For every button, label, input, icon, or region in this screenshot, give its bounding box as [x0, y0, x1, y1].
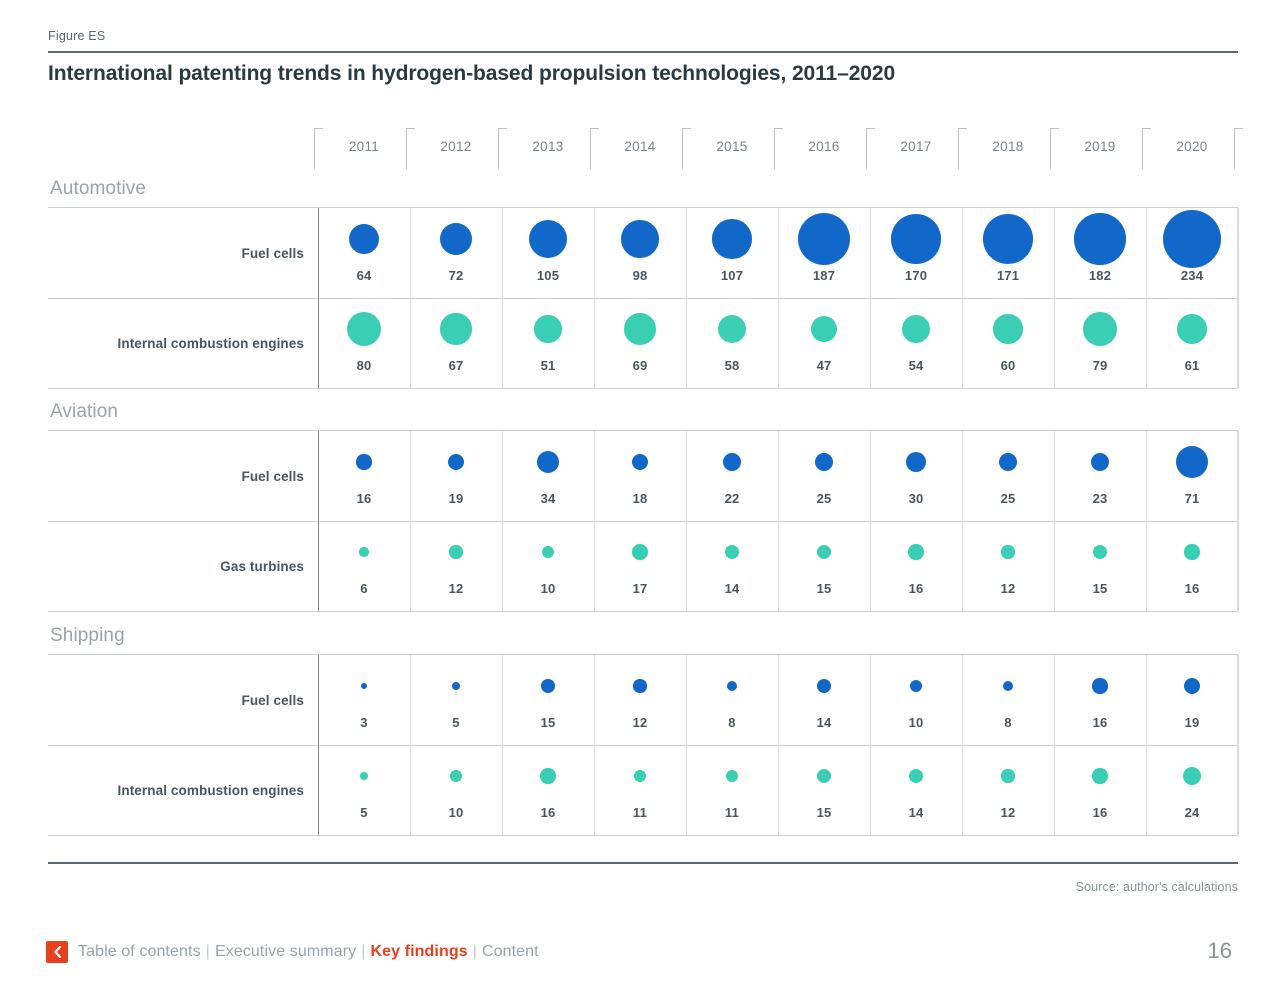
bubble-marker: [633, 679, 646, 692]
bubble-slot: [318, 431, 410, 493]
bubble-slot: [686, 521, 778, 583]
bubble-slot: [1054, 521, 1146, 583]
group-aviation: AviationFuel cells16193418222530252371Ga…: [48, 401, 1238, 612]
bubble-marker: [624, 313, 655, 344]
bubble-marker: [361, 683, 368, 690]
data-value: 71: [1146, 491, 1238, 506]
data-cell: 67: [410, 298, 502, 388]
data-value: 5: [410, 715, 502, 730]
data-value: 10: [410, 805, 502, 820]
data-value: 25: [778, 491, 870, 506]
year-header-2015: 2015: [686, 120, 778, 172]
data-value: 67: [410, 358, 502, 373]
bubble-marker: [727, 681, 738, 692]
year-header-2020: 2020: [1146, 120, 1238, 172]
breadcrumb-separator: |: [473, 943, 477, 960]
bubble-slot: [594, 431, 686, 493]
bubble-slot: [870, 521, 962, 583]
data-value: 51: [502, 358, 594, 373]
column-divider: [1237, 208, 1238, 388]
data-value: 72: [410, 268, 502, 283]
bubble-marker: [347, 312, 381, 346]
data-cell: 14: [778, 655, 870, 745]
bubble-marker: [1092, 768, 1107, 783]
data-cell: 19: [410, 431, 502, 521]
data-cell: 3: [318, 655, 410, 745]
bubble-marker: [1074, 213, 1125, 264]
data-cell: 24: [1146, 745, 1238, 835]
data-cell: 12: [962, 521, 1054, 611]
bubble-slot: [1146, 208, 1238, 270]
bubble-slot: [870, 745, 962, 807]
data-value: 60: [962, 358, 1054, 373]
bubble-slot: [502, 745, 594, 807]
bubble-slot: [778, 745, 870, 807]
bubble-slot: [962, 745, 1054, 807]
bubble-slot: [1146, 521, 1238, 583]
bubble-slot: [962, 298, 1054, 360]
bubble-slot: [686, 745, 778, 807]
bubble-marker: [541, 679, 556, 694]
data-cell: 79: [1054, 298, 1146, 388]
breadcrumb: Table of contents|Executive summary|Key …: [78, 943, 539, 961]
data-cell: 15: [1054, 521, 1146, 611]
year-header-2013: 2013: [502, 120, 594, 172]
bubble-marker: [983, 214, 1033, 264]
data-cell: 17: [594, 521, 686, 611]
breadcrumb-separator: |: [206, 943, 210, 960]
row-label: Internal combustion engines: [48, 298, 304, 388]
data-value: 58: [686, 358, 778, 373]
data-value: 14: [870, 805, 962, 820]
bubble-marker: [811, 316, 837, 342]
breadcrumb-item-executive-summary[interactable]: Executive summary: [215, 943, 356, 960]
bubble-slot: [778, 298, 870, 360]
bubble-slot: [502, 298, 594, 360]
data-value: 12: [962, 805, 1054, 820]
bubble-slot: [502, 208, 594, 270]
bubble-slot: [410, 208, 502, 270]
data-cell: 23: [1054, 431, 1146, 521]
year-label: 2016: [808, 139, 839, 154]
bubble-slot: [1054, 298, 1146, 360]
row-label: Fuel cells: [48, 431, 304, 521]
bubble-slot: [502, 431, 594, 493]
data-value: 61: [1146, 358, 1238, 373]
breadcrumb-item-content[interactable]: Content: [482, 943, 539, 960]
data-cell: 51: [502, 298, 594, 388]
data-value: 15: [778, 805, 870, 820]
data-cell: 30: [870, 431, 962, 521]
data-cell: 60: [962, 298, 1054, 388]
data-value: 47: [778, 358, 870, 373]
year-label: 2012: [440, 139, 471, 154]
data-cell: 6: [318, 521, 410, 611]
data-value: 64: [318, 268, 410, 283]
data-value: 80: [318, 358, 410, 373]
data-cell: 61: [1146, 298, 1238, 388]
bubble-marker: [1092, 678, 1107, 693]
bubble-marker: [910, 680, 922, 692]
bubble-marker: [540, 768, 555, 783]
back-button[interactable]: [46, 941, 68, 963]
data-cell: 16: [870, 521, 962, 611]
bubble-marker: [815, 453, 834, 472]
data-cell: 34: [502, 431, 594, 521]
data-cell: 25: [962, 431, 1054, 521]
data-cell: 182: [1054, 208, 1146, 298]
data-value: 171: [962, 268, 1054, 283]
data-cell: 14: [686, 521, 778, 611]
data-value: 16: [318, 491, 410, 506]
bubble-marker: [993, 314, 1022, 343]
column-divider: [1237, 431, 1238, 611]
data-value: 12: [410, 581, 502, 596]
data-value: 234: [1146, 268, 1238, 283]
bubble-marker: [718, 315, 747, 344]
year-header-2016: 2016: [778, 120, 870, 172]
bubble-marker: [1001, 545, 1014, 558]
data-cell: 47: [778, 298, 870, 388]
data-value: 105: [502, 268, 594, 283]
bubble-marker: [726, 770, 739, 783]
data-cell: 16: [502, 745, 594, 835]
bubble-slot: [1054, 208, 1146, 270]
column-divider: [1238, 208, 1239, 388]
bubble-slot: [778, 208, 870, 270]
row-label: Internal combustion engines: [48, 745, 304, 835]
chevron-left-icon: [53, 946, 62, 958]
data-value: 12: [594, 715, 686, 730]
bubble-marker: [817, 545, 832, 560]
data-cell: 64: [318, 208, 410, 298]
data-cell: 8: [962, 655, 1054, 745]
bubble-slot: [410, 298, 502, 360]
breadcrumb-item-key-findings[interactable]: Key findings: [371, 943, 468, 960]
data-value: 187: [778, 268, 870, 283]
data-cell: 22: [686, 431, 778, 521]
bubble-slot: [686, 431, 778, 493]
data-value: 11: [594, 805, 686, 820]
bubble-marker: [356, 454, 371, 469]
bubble-slot: [1146, 298, 1238, 360]
year-header-2019: 2019: [1054, 120, 1146, 172]
data-cell: 12: [962, 745, 1054, 835]
bubble-slot: [962, 208, 1054, 270]
bubble-marker: [529, 220, 568, 259]
data-value: 16: [870, 581, 962, 596]
year-header-2011: 2011: [318, 120, 410, 172]
data-value: 16: [1054, 805, 1146, 820]
data-value: 22: [686, 491, 778, 506]
breadcrumb-separator: |: [361, 943, 365, 960]
bubble-slot: [1146, 745, 1238, 807]
data-cell: 10: [870, 655, 962, 745]
bubble-marker: [909, 769, 923, 783]
year-tick: [1234, 128, 1243, 169]
data-value: 30: [870, 491, 962, 506]
data-value: 19: [1146, 715, 1238, 730]
bubble-slot: [502, 521, 594, 583]
group-grid: Fuel cells16193418222530252371Gas turbin…: [48, 430, 1238, 612]
data-value: 19: [410, 491, 502, 506]
bubble-marker: [1177, 314, 1207, 344]
data-value: 18: [594, 491, 686, 506]
bubble-marker: [632, 544, 648, 560]
page-number: 16: [1208, 938, 1232, 964]
data-value: 11: [686, 805, 778, 820]
bubble-slot: [1146, 431, 1238, 493]
bubble-slot: [962, 431, 1054, 493]
bubble-marker: [891, 214, 940, 263]
column-divider: [1238, 655, 1239, 835]
data-cell: 107: [686, 208, 778, 298]
data-cell: 170: [870, 208, 962, 298]
data-value: 5: [318, 805, 410, 820]
data-cell: 105: [502, 208, 594, 298]
bubble-marker: [908, 544, 923, 559]
bubble-slot: [870, 208, 962, 270]
bubble-slot: [594, 208, 686, 270]
bubble-slot: [778, 655, 870, 717]
bubble-marker: [449, 545, 462, 558]
data-value: 34: [502, 491, 594, 506]
bubble-marker: [542, 546, 554, 558]
bubble-marker: [999, 453, 1018, 472]
data-value: 182: [1054, 268, 1146, 283]
figure-page: Figure ES International patenting trends…: [0, 0, 1280, 1006]
bubble-marker: [440, 223, 472, 255]
bottom-rule: [48, 862, 1238, 864]
data-cell: 19: [1146, 655, 1238, 745]
group-automotive: AutomotiveFuel cells64721059810718717017…: [48, 178, 1238, 389]
bubble-marker: [1083, 312, 1117, 346]
data-cell: 71: [1146, 431, 1238, 521]
bubble-marker: [359, 547, 368, 556]
year-header-row: 2011201220132014201520162017201820192020: [318, 120, 1238, 172]
bubble-slot: [594, 521, 686, 583]
data-value: 79: [1054, 358, 1146, 373]
year-header-2012: 2012: [410, 120, 502, 172]
bubble-marker: [634, 770, 647, 783]
data-cell: 72: [410, 208, 502, 298]
bubble-slot: [870, 431, 962, 493]
bubble-slot: [1054, 745, 1146, 807]
data-cell: 171: [962, 208, 1054, 298]
data-value: 12: [962, 581, 1054, 596]
bubble-slot: [870, 655, 962, 717]
bubble-slot: [594, 298, 686, 360]
data-cell: 25: [778, 431, 870, 521]
bubble-marker: [1093, 545, 1108, 560]
bubble-slot: [686, 208, 778, 270]
row-label: Gas turbines: [48, 521, 304, 611]
data-cell: 11: [686, 745, 778, 835]
data-value: 3: [318, 715, 410, 730]
row-label: Fuel cells: [48, 655, 304, 745]
bubble-marker: [1183, 767, 1202, 786]
bubble-slot: [318, 521, 410, 583]
bubble-marker: [1001, 769, 1014, 782]
bubble-slot: [594, 745, 686, 807]
bubble-slot: [962, 521, 1054, 583]
data-value: 25: [962, 491, 1054, 506]
bubble-marker: [440, 313, 471, 344]
bubble-slot: [410, 745, 502, 807]
bubble-marker: [1176, 446, 1208, 478]
column-divider: [1237, 655, 1238, 835]
bubble-slot: [318, 745, 410, 807]
bubble-marker: [452, 682, 460, 690]
group-shipping: ShippingFuel cells3515128141081619Intern…: [48, 625, 1238, 836]
year-header-2014: 2014: [594, 120, 686, 172]
group-heading: Shipping: [50, 625, 1238, 647]
data-cell: 18: [594, 431, 686, 521]
data-value: 6: [318, 581, 410, 596]
year-label: 2019: [1084, 139, 1115, 154]
data-value: 107: [686, 268, 778, 283]
bubble-slot: [318, 298, 410, 360]
data-value: 23: [1054, 491, 1146, 506]
data-value: 8: [686, 715, 778, 730]
data-cell: 12: [410, 521, 502, 611]
bubble-slot: [1054, 655, 1146, 717]
bubble-marker: [906, 452, 927, 473]
data-value: 16: [502, 805, 594, 820]
data-value: 14: [686, 581, 778, 596]
bubble-marker: [1184, 678, 1201, 695]
bubble-marker: [723, 453, 741, 471]
year-header-2018: 2018: [962, 120, 1054, 172]
bubble-marker: [448, 454, 465, 471]
data-cell: 15: [778, 745, 870, 835]
bubble-marker: [902, 315, 930, 343]
data-cell: 11: [594, 745, 686, 835]
bubble-slot: [778, 431, 870, 493]
bubble-slot: [410, 521, 502, 583]
data-cell: 14: [870, 745, 962, 835]
data-cell: 80: [318, 298, 410, 388]
year-label: 2020: [1176, 139, 1207, 154]
data-value: 24: [1146, 805, 1238, 820]
data-value: 15: [1054, 581, 1146, 596]
figure-label: Figure ES: [48, 29, 105, 43]
data-cell: 10: [502, 521, 594, 611]
column-divider: [1238, 431, 1239, 611]
bubble-marker: [798, 213, 850, 265]
data-cell: 15: [502, 655, 594, 745]
year-label: 2011: [349, 139, 379, 154]
data-value: 14: [778, 715, 870, 730]
footer-nav: Table of contents|Executive summary|Key …: [46, 941, 539, 963]
data-value: 170: [870, 268, 962, 283]
data-cell: 16: [1054, 745, 1146, 835]
bubble-slot: [1146, 655, 1238, 717]
data-cell: 16: [318, 431, 410, 521]
year-label: 2018: [992, 139, 1023, 154]
data-cell: 234: [1146, 208, 1238, 298]
bubble-marker: [537, 451, 559, 473]
data-cell: 58: [686, 298, 778, 388]
year-label: 2017: [900, 139, 931, 154]
year-label: 2014: [624, 139, 655, 154]
data-value: 15: [778, 581, 870, 596]
data-cell: 16: [1146, 521, 1238, 611]
year-label: 2015: [716, 139, 747, 154]
group-heading: Automotive: [50, 178, 1238, 200]
bubble-slot: [318, 208, 410, 270]
bubble-marker: [349, 224, 379, 254]
data-value: 8: [962, 715, 1054, 730]
data-value: 17: [594, 581, 686, 596]
data-cell: 8: [686, 655, 778, 745]
bubble-slot: [870, 298, 962, 360]
group-grid: Fuel cells3515128141081619Internal combu…: [48, 654, 1238, 836]
bubble-marker: [1163, 210, 1221, 268]
page-title: International patenting trends in hydrog…: [48, 62, 1228, 86]
bubble-marker: [360, 772, 368, 780]
data-cell: 54: [870, 298, 962, 388]
bubble-marker: [817, 769, 832, 784]
data-value: 15: [502, 715, 594, 730]
bubble-marker: [1003, 681, 1014, 692]
top-rule: [48, 51, 1238, 53]
data-value: 54: [870, 358, 962, 373]
bubble-slot: [502, 655, 594, 717]
bubble-slot: [1054, 431, 1146, 493]
bubble-slot: [410, 431, 502, 493]
bubble-marker: [725, 545, 739, 559]
bubble-marker: [1091, 453, 1109, 471]
data-cell: 15: [778, 521, 870, 611]
bubble-marker: [450, 770, 462, 782]
bubble-marker: [632, 454, 648, 470]
data-cell: 69: [594, 298, 686, 388]
bubble-slot: [594, 655, 686, 717]
data-cell: 5: [410, 655, 502, 745]
breadcrumb-item-table-of-contents[interactable]: Table of contents: [78, 943, 201, 960]
row-label: Fuel cells: [48, 208, 304, 298]
bubble-marker: [621, 220, 659, 258]
bubble-slot: [962, 655, 1054, 717]
data-cell: 10: [410, 745, 502, 835]
bubble-slot: [686, 298, 778, 360]
group-grid: Fuel cells647210598107187170171182234Int…: [48, 207, 1238, 389]
data-cell: 5: [318, 745, 410, 835]
data-value: 16: [1146, 581, 1238, 596]
data-cell: 187: [778, 208, 870, 298]
data-cell: 16: [1054, 655, 1146, 745]
bubble-slot: [318, 655, 410, 717]
bubble-marker: [1184, 544, 1199, 559]
data-cell: 98: [594, 208, 686, 298]
year-header-2017: 2017: [870, 120, 962, 172]
bubble-slot: [686, 655, 778, 717]
bubble-marker: [817, 679, 831, 693]
data-value: 98: [594, 268, 686, 283]
source-note: Source: author's calculations: [1076, 880, 1238, 894]
year-label: 2013: [532, 139, 563, 154]
bubble-marker: [712, 219, 751, 258]
bubble-slot: [410, 655, 502, 717]
bubble-slot: [778, 521, 870, 583]
bubble-marker: [534, 315, 561, 342]
data-value: 10: [870, 715, 962, 730]
data-value: 16: [1054, 715, 1146, 730]
data-value: 69: [594, 358, 686, 373]
data-cell: 12: [594, 655, 686, 745]
data-value: 10: [502, 581, 594, 596]
